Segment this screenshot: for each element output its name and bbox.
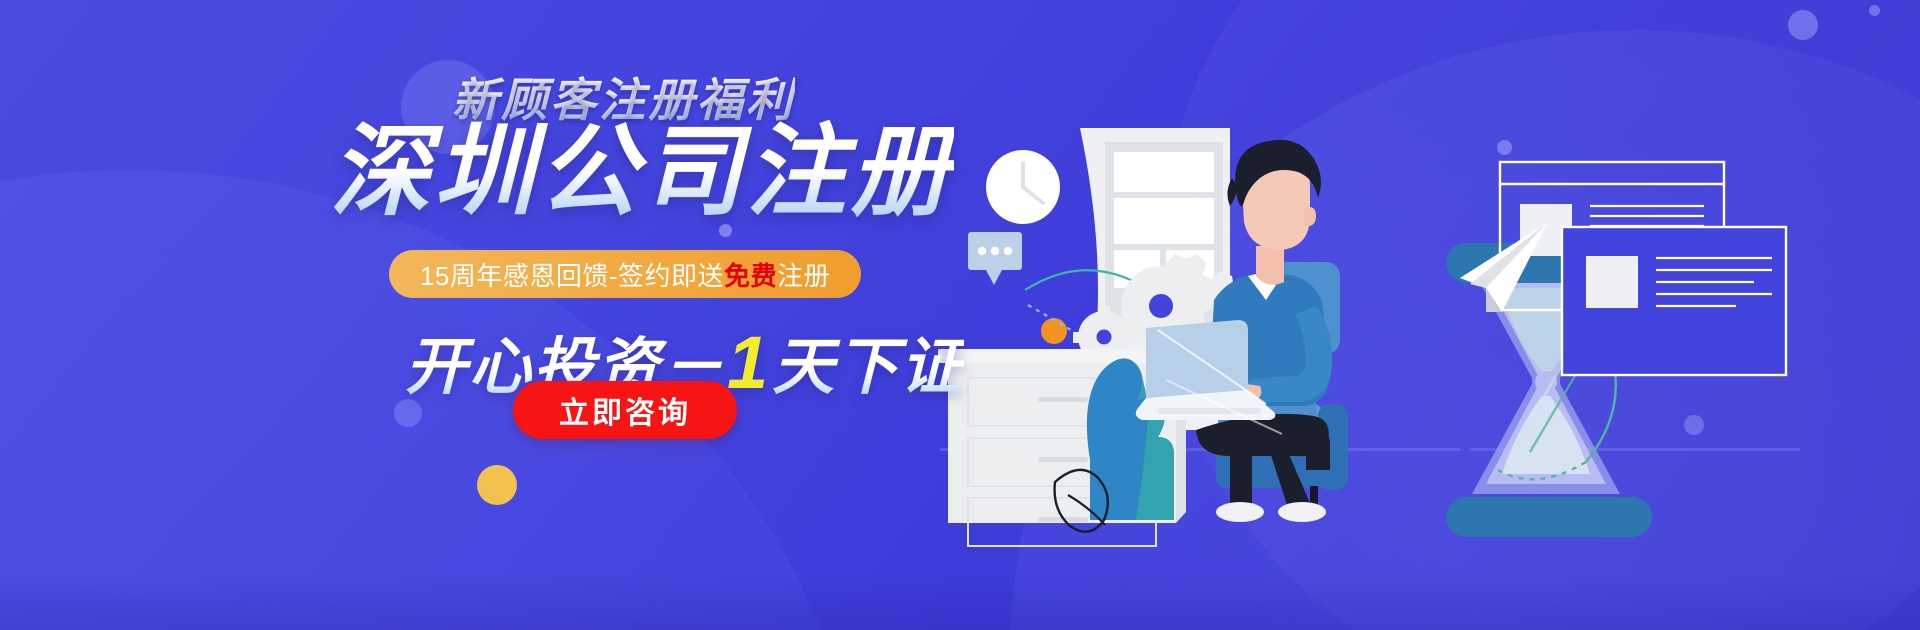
badge-prefix: 15周年感恩回馈-签约即送 [420,256,724,293]
badge-suffix: 注册 [777,256,830,293]
document-card-2 [1562,227,1786,375]
tagline-after: 天下证 [772,333,964,402]
page-title: 深圳公司注册 [330,120,954,225]
illustration [930,0,1920,630]
badge-highlight: 免费 [724,256,777,293]
gear-center-hole [1149,294,1173,318]
banner-copy: 新顾客注册福利 深圳公司注册 15周年感恩回馈-签约即送免费注册 开心投资－1天… [0,0,1000,630]
tagline-number: 1 [725,321,772,404]
consult-now-button[interactable]: 立即咨询 [513,381,737,439]
promo-banner: 新顾客注册福利 深圳公司注册 15周年感恩回馈-签约即送免费注册 开心投资－1天… [0,0,1920,630]
promo-badge: 15周年感恩回馈-签约即送免费注册 [389,250,861,298]
